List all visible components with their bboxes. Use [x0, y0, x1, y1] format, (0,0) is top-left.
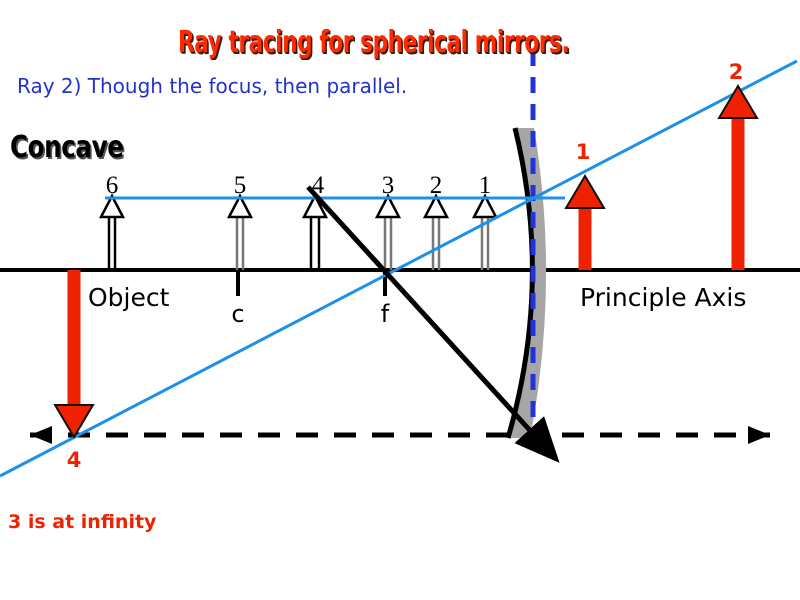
object-marker-label-3: 3 [382, 173, 395, 198]
black-ray-through-focus [308, 187, 536, 437]
dashed-axis-right-arrowhead [748, 426, 770, 444]
page-title: Ray tracing for spherical mirrors. [178, 28, 569, 58]
object-arrow-4 [304, 196, 326, 270]
focal-point-label: f [381, 302, 389, 326]
object-marker-label-1: 1 [479, 173, 492, 198]
object-marker-label-2: 2 [430, 173, 443, 198]
object-marker-label-4: 4 [312, 173, 325, 198]
red-arrow-label-4: 4 [67, 450, 82, 471]
object-marker-label-6: 6 [106, 173, 119, 198]
center-of-curvature-label: c [231, 302, 244, 326]
object-arrow-5 [229, 196, 251, 270]
object-arrow-1 [474, 196, 496, 270]
dashed-axis-left-arrowhead [30, 426, 52, 444]
object-label: Object [88, 285, 169, 310]
diagram-canvas: Ray tracing for spherical mirrors. Ray 2… [0, 0, 800, 600]
mirror-type-label: Concave [10, 133, 124, 163]
ray-rule-subtitle: Ray 2) Though the focus, then parallel. [17, 76, 407, 96]
object-arrow-2 [425, 196, 447, 270]
red-arrow-1 [566, 176, 604, 270]
infinity-footnote: 3 is at infinity [8, 513, 156, 532]
red-arrow-label-2: 2 [729, 62, 744, 83]
object-arrow-6 [101, 196, 123, 270]
red-arrow-label-1: 1 [576, 142, 591, 163]
principal-axis-label: Principle Axis [580, 285, 746, 310]
object-arrow-3 [377, 196, 399, 270]
object-marker-label-5: 5 [234, 173, 247, 198]
red-arrow-2 [719, 86, 757, 270]
